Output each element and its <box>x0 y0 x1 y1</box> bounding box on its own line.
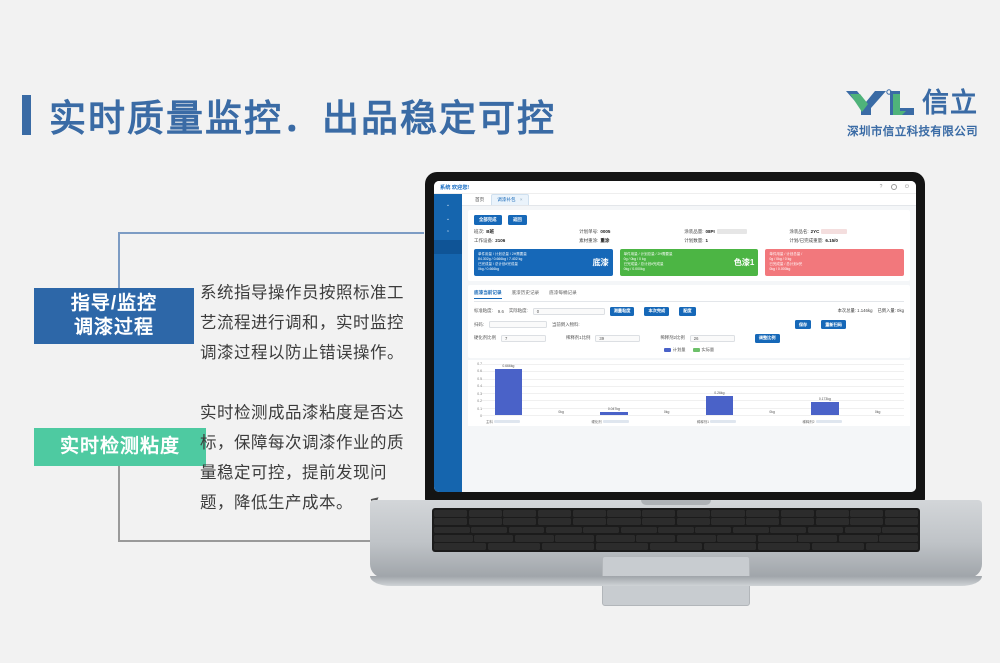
complete-all-button[interactable]: 全部完成 <box>474 215 502 225</box>
keyboard-key <box>758 535 797 542</box>
std-viscosity-value: 9.6 <box>498 309 504 314</box>
chart-bar <box>811 402 838 415</box>
topbar-icon-group: ? ⏻ <box>878 184 910 190</box>
keyboard-key <box>717 535 756 542</box>
redacted-value <box>494 420 520 423</box>
chart-gridline <box>482 415 904 416</box>
sidebar-item-5[interactable] <box>434 254 462 268</box>
logout-icon[interactable]: ⏻ <box>904 184 910 190</box>
legend-actual-swatch <box>693 348 700 352</box>
callout-badge-viscosity-line1: 实时检测粘度 <box>60 435 180 459</box>
sidebar: ⌄ ⌄ ⌃ <box>434 194 462 492</box>
app-body: ⌄ ⌄ ⌃ 首页 调漆补包 <box>434 194 916 492</box>
keyboard-key <box>538 518 571 525</box>
keyboard-key <box>509 527 545 534</box>
keyboard-key <box>650 543 702 550</box>
keyboard-key <box>503 518 536 525</box>
keyboard-key <box>546 527 582 534</box>
keyboard-key <box>515 535 554 542</box>
keyboard-key <box>850 510 883 517</box>
subtab-barrel-records[interactable]: 底漆每桶记录 <box>549 290 577 299</box>
keyboard-key <box>471 527 507 534</box>
chart-bar-cell: 0.26kg <box>693 364 746 415</box>
chart-legend: 计划量 实际量 <box>474 347 904 353</box>
keyboard-key <box>621 527 657 534</box>
keyboard-key <box>733 527 769 534</box>
keyboard-key <box>839 535 878 542</box>
material-card-color1[interactable]: 单件用量 / 计划总量 / 2H需要量 0g / 0kg / 0 kg 已完成量… <box>620 249 759 276</box>
chart-bar-label: 0.26kg <box>714 391 724 395</box>
keyboard-key <box>596 535 635 542</box>
legend-plan: 计划量 <box>664 347 686 353</box>
keyboard-key <box>434 527 470 534</box>
keyboard-key <box>704 543 756 550</box>
app-content: 首页 调漆补包 × 全部完成 返回 <box>462 194 916 492</box>
info-equipment-label: 工作设备: <box>474 238 493 244</box>
finish-batch-button[interactable]: 本次完成 <box>644 307 669 316</box>
material-card-primer-name: 底漆 <box>590 257 609 268</box>
app-welcome-text: 系统 欢迎您! <box>440 184 469 191</box>
chart-y-axis: 00.10.20.30.40.50.60.7 <box>472 364 482 416</box>
connector-line-top-vertical <box>118 232 120 288</box>
keyboard-key <box>677 535 716 542</box>
scan-label: 扫码: <box>474 322 484 328</box>
keyboard-key <box>812 543 864 550</box>
keyboard-key <box>503 510 536 517</box>
chart-bar-cell: 0.666kg <box>482 364 535 415</box>
keyboard-key <box>746 510 779 517</box>
card-line2-value: 0kg / 0.000kg <box>769 267 802 272</box>
keyboard-key <box>711 518 744 525</box>
thinner1-label: 稀释剂1比例 <box>566 335 590 341</box>
info-plan-weight-value: 6.15/0 <box>825 238 838 244</box>
laptop-lid: 系统 欢迎您! ? ⏻ ⌄ ⌄ ⌃ <box>425 172 925 502</box>
logo-company-short: 信立 <box>922 90 978 117</box>
keyboard-key <box>658 527 694 534</box>
keyboard-key <box>596 543 648 550</box>
keyboard-key <box>798 535 837 542</box>
material-card-third-lines: 单件用量 / 计划总量 / 0g / 0kg / 0 kg 已完成量 / 总计划… <box>769 252 802 273</box>
page-title: 实时质量监控．出品稳定可控 <box>22 88 556 142</box>
keyboard-key <box>474 535 513 542</box>
gear-icon[interactable] <box>891 184 897 190</box>
redacted-value <box>710 420 736 423</box>
scan-row: 扫码: 当前倒入物料: 保存 重新扫码 <box>474 320 904 329</box>
legend-actual-label: 实际量 <box>702 347 715 353</box>
tab-home[interactable]: 首页 <box>470 195 489 205</box>
actual-viscosity-label: 实际粘度: <box>509 308 528 314</box>
ratio-row: 硬化剂比例 7 稀释剂1比例 39 稀释剂2比例 26 调整比例 <box>474 334 904 343</box>
info-recoat-value: 重涂 <box>600 238 609 244</box>
chart-x-label: 稀释剂2 <box>799 417 905 426</box>
keyboard-row <box>434 543 918 550</box>
card-line1-label: 单件用量 / 计划总量 / 2H需要量 <box>624 252 673 257</box>
chart-x-labels: 主料硬化剂稀释剂1稀释剂2 <box>482 417 904 426</box>
keyboard-key <box>885 518 918 525</box>
keyboard-key <box>781 510 814 517</box>
card-line1-label: 单件用量 / 计划总量 / 2H需要量 <box>478 252 527 257</box>
thinner2-input[interactable]: 26 <box>690 335 735 342</box>
chart-plot-area: 0.666kg0kg0.047kg0kg0.26kg0kg0.173kg0kg <box>482 364 904 416</box>
scan-input[interactable] <box>489 321 547 328</box>
std-viscosity-label: 标准粘度: <box>474 308 493 314</box>
callout-badge-viscosity: 实时检测粘度 <box>34 428 206 466</box>
current-material-label: 当前倒入物料: <box>552 322 580 328</box>
viscosity-row: 标准粘度: 9.6 实际粘度: 0 测量粘度 本次完成 配度 本次总量: 1.1… <box>474 307 904 316</box>
keyboard-key <box>434 510 467 517</box>
info-coating-name-label: 涂装品名: <box>789 229 808 235</box>
rescan-button[interactable]: 重新扫码 <box>821 320 846 329</box>
title-text: 实时质量监控．出品稳定可控 <box>49 88 556 142</box>
chart-bar-label: 0.666kg <box>502 364 514 368</box>
laptop-base-notch <box>641 500 711 505</box>
keyboard-row <box>434 535 918 542</box>
legend-plan-swatch <box>664 348 671 352</box>
keyboard-key <box>781 518 814 525</box>
redacted-value <box>821 229 847 234</box>
redacted-value <box>816 420 842 423</box>
subtab-history-records[interactable]: 底漆历史记录 <box>512 290 540 299</box>
info-plan-weight: 计划/已完成重量: 6.15/0 <box>789 238 904 244</box>
keyboard-key <box>866 543 918 550</box>
keyboard-key <box>758 543 810 550</box>
card-line2-label: 已完成量 / 总计划#完成量 <box>478 262 527 267</box>
info-shift: 班次: B班 <box>474 229 579 235</box>
material-card-primer-lines: 单件用量 / 计划总量 / 2H需要量 84.302g / 0.666kg / … <box>478 252 527 273</box>
keyboard-key <box>850 518 883 525</box>
callout-badge-guidance-line1: 指导/监控 <box>34 292 194 316</box>
material-bar-chart: 00.10.20.30.40.50.60.7 0.666kg0kg0.047kg… <box>468 360 910 426</box>
info-shift-label: 班次: <box>474 229 484 235</box>
chart-bar-cell: 0kg <box>535 364 588 415</box>
keyboard-key <box>885 510 918 517</box>
keyboard-key <box>538 510 571 517</box>
chart-bar-label: 0kg <box>558 410 563 414</box>
callout-badge-guidance: 指导/监控 调漆过程 <box>34 288 194 344</box>
app-topbar: 系统 欢迎您! ? ⏻ <box>434 181 916 194</box>
keyboard-row <box>434 510 918 517</box>
laptop-screen: 系统 欢迎您! ? ⏻ ⌄ ⌄ ⌃ <box>434 181 916 492</box>
save-button[interactable]: 保存 <box>795 320 811 329</box>
keyboard-key <box>845 527 881 534</box>
laptop-mockup: 系统 欢迎您! ? ⏻ ⌄ ⌄ ⌃ <box>370 172 982 610</box>
chart-bar <box>706 396 733 415</box>
hardener-label: 硬化剂比例 <box>474 335 496 341</box>
keyboard-key <box>677 510 710 517</box>
chart-bar-cell: 0kg <box>640 364 693 415</box>
keyboard-key <box>583 527 619 534</box>
keyboard-row <box>434 527 918 534</box>
keyboard-key <box>882 527 918 534</box>
order-info-panel: 全部完成 返回 班次: B班 计划单号: 0005 <box>468 210 910 281</box>
info-recoat-label: 素材重涂: <box>579 238 598 244</box>
chart-bar-label: 0kg <box>875 410 880 414</box>
chart-x-label: 主料 <box>482 417 588 426</box>
help-icon[interactable]: ? <box>878 184 884 190</box>
keyboard-key <box>607 510 640 517</box>
info-plan-number: 计划单号: 0005 <box>579 229 684 235</box>
laptop-keyboard <box>432 508 920 552</box>
legend-actual: 实际量 <box>693 347 715 353</box>
logo-company-full: 深圳市信立科技有限公司 <box>844 123 978 139</box>
chart-bar-cell: 0.047kg <box>588 364 641 415</box>
thinner2-label: 稀释剂2比例 <box>660 335 684 341</box>
keyboard-key <box>746 518 779 525</box>
chart-bar-cell: 0.173kg <box>799 364 852 415</box>
keyboard-key <box>677 518 710 525</box>
batch-total-text: 本次总量: 1.146kg <box>838 308 873 314</box>
material-card-third[interactable]: 单件用量 / 计划总量 / 0g / 0kg / 0 kg 已完成量 / 总计划… <box>765 249 904 276</box>
material-card-primer[interactable]: 单件用量 / 计划总量 / 2H需要量 84.302g / 0.666kg / … <box>474 249 613 276</box>
info-plan-qty-label: 计划数量: <box>684 238 703 244</box>
sidebar-item-active[interactable] <box>434 240 462 254</box>
keyboard-key <box>816 510 849 517</box>
actual-viscosity-input[interactable]: 0 <box>533 308 605 315</box>
info-shift-value: B班 <box>486 229 494 235</box>
ratio-button[interactable]: 配度 <box>679 307 695 316</box>
keyboard-key <box>879 535 918 542</box>
callout-badge-guidance-line2: 调漆过程 <box>34 316 194 340</box>
chart-bar-label: 0.173kg <box>819 397 831 401</box>
keyboard-key <box>434 535 473 542</box>
adjust-ratio-button[interactable]: 调整比例 <box>755 334 780 343</box>
keyboard-key <box>573 510 606 517</box>
poured-total-text: 已倒入量: 0kg <box>877 308 904 314</box>
keyboard-key <box>770 527 806 534</box>
keyboard-key <box>555 535 594 542</box>
keyboard-key <box>488 543 540 550</box>
connector-line-bottom-vertical <box>118 466 120 542</box>
back-button[interactable]: 返回 <box>508 215 527 225</box>
card-line2-value: 0kg / 0.666kg <box>478 267 527 272</box>
chart-bar-label: 0kg <box>664 410 669 414</box>
records-subtabs: 底漆当前记录 底漆历史记录 底漆每桶记录 <box>474 290 904 303</box>
panel-toolbar: 全部完成 返回 <box>474 215 904 225</box>
keyboard-key <box>542 543 594 550</box>
subtab-current-records[interactable]: 底漆当前记录 <box>474 290 502 299</box>
order-info-grid: 班次: B班 计划单号: 0005 涂装品量: 08PI <box>474 229 904 244</box>
info-plan-qty-value: 1 <box>705 238 708 244</box>
thinner1-input[interactable]: 39 <box>595 335 640 342</box>
info-plan-weight-label: 计划/已完成重量: <box>789 238 823 244</box>
tab-paint-mixing[interactable]: 调漆补包 × <box>491 194 528 205</box>
chart-bar <box>495 369 522 415</box>
chart-bar-label: 0kg <box>769 410 774 414</box>
info-coating-amount: 涂装品量: 08PI <box>684 229 789 235</box>
card-line2-label: 已完成量 / 总计划#完 <box>769 262 802 267</box>
keyboard-key <box>434 543 486 550</box>
title-accent-bar <box>22 95 31 135</box>
redacted-value <box>717 229 747 234</box>
redacted-value <box>603 420 629 423</box>
info-plan-number-label: 计划单号: <box>579 229 598 235</box>
info-equipment-value: 2106 <box>495 238 505 244</box>
chart-bar-label: 0.047kg <box>608 407 620 411</box>
info-coating-amount-label: 涂装品量: <box>684 229 703 235</box>
card-line2-label: 已完成量 / 总计划#完成量 <box>624 262 673 267</box>
tab-home-label: 首页 <box>475 197 484 202</box>
material-card-color1-name: 色漆1 <box>731 257 754 268</box>
info-coating-amount-value: 08PI <box>705 229 714 235</box>
keyboard-key <box>636 535 675 542</box>
keyboard-row <box>434 518 918 525</box>
keyboard-key <box>642 518 675 525</box>
chart-x-label: 稀释剂1 <box>693 417 799 426</box>
chart-bars: 0.666kg0kg0.047kg0kg0.26kg0kg0.173kg0kg <box>482 364 904 415</box>
sidebar-item-3[interactable]: ⌃ <box>434 226 462 240</box>
chart-bar-cell: 0kg <box>851 364 904 415</box>
sidebar-item-1[interactable]: ⌄ <box>434 198 462 212</box>
keyboard-key <box>469 518 502 525</box>
material-card-color1-lines: 单件用量 / 计划总量 / 2H需要量 0g / 0kg / 0 kg 已完成量… <box>624 252 673 273</box>
info-plan-qty: 计划数量: 1 <box>684 238 789 244</box>
keyboard-key <box>434 518 467 525</box>
measure-viscosity-button[interactable]: 测量粘度 <box>610 307 635 316</box>
records-panel: 底漆当前记录 底漆历史记录 底漆每桶记录 标准粘度: 9.6 实际粘度: 0 测… <box>468 285 910 359</box>
keyboard-key <box>808 527 844 534</box>
keyboard-key <box>469 510 502 517</box>
keyboard-key <box>695 527 731 534</box>
info-coating-name-value: 2YC <box>811 229 820 235</box>
chart-bar <box>600 412 627 415</box>
laptop-base <box>370 500 982 578</box>
company-logo: 信立 深圳市信立科技有限公司 <box>844 88 978 139</box>
card-line2-value: 0kg / 0.000kg <box>624 267 673 272</box>
laptop-foot <box>370 576 982 586</box>
card-line1-label: 单件用量 / 计划总量 / <box>769 252 802 257</box>
close-icon[interactable]: × <box>520 197 523 202</box>
info-coating-name: 涂装品名: 2YC <box>789 229 904 235</box>
chart-bar-cell: 0kg <box>746 364 799 415</box>
info-plan-number-value: 0005 <box>600 229 610 235</box>
material-card-group: 单件用量 / 计划总量 / 2H需要量 84.302g / 0.666kg / … <box>474 249 904 276</box>
keyboard-key <box>642 510 675 517</box>
hardener-input[interactable]: 7 <box>501 335 546 342</box>
paint-mixing-app: 系统 欢迎您! ? ⏻ ⌄ ⌄ ⌃ <box>434 181 916 492</box>
xl-logo-icon <box>844 88 916 118</box>
info-recoat: 素材重涂: 重涂 <box>579 238 684 244</box>
chart-x-label: 硬化剂 <box>588 417 694 426</box>
sidebar-item-2[interactable]: ⌄ <box>434 212 462 226</box>
keyboard-key <box>573 518 606 525</box>
tab-paint-mixing-label: 调漆补包 <box>497 197 515 202</box>
keyboard-key <box>816 518 849 525</box>
legend-plan-label: 计划量 <box>673 347 686 353</box>
keyboard-key <box>711 510 744 517</box>
tabbar: 首页 调漆补包 × <box>462 194 916 206</box>
info-equipment: 工作设备: 2106 <box>474 238 579 244</box>
keyboard-key <box>607 518 640 525</box>
